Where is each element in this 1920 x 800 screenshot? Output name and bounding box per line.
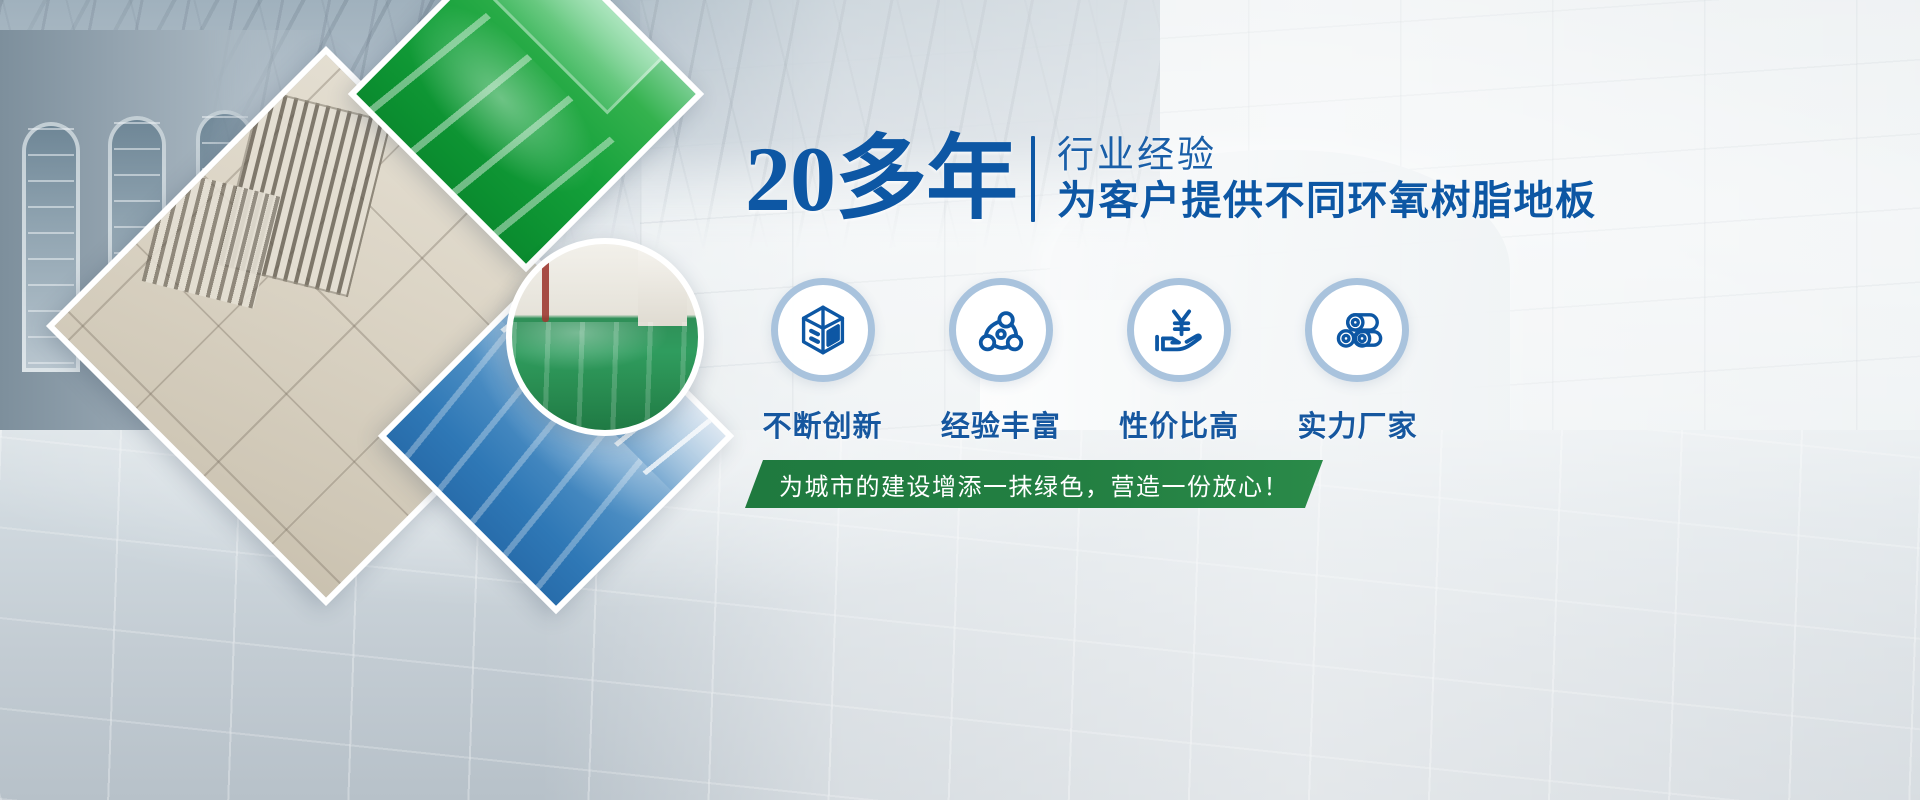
headline-divider (1031, 136, 1035, 222)
feature-item-experience[interactable]: 经验丰富 (923, 278, 1078, 445)
feature-label: 不断创新 (762, 403, 882, 445)
headline-subtitle: 行业经验 (1057, 132, 1597, 177)
feature-item-factory[interactable]: 实力厂家 (1280, 278, 1435, 445)
hand-holding-yen-icon (1152, 303, 1206, 357)
cube-box-icon (796, 303, 850, 357)
feature-icon-circle (1127, 278, 1231, 382)
headline-description: 为客户提供不同环氧树脂地板 (1057, 177, 1597, 226)
headline-block: 20多年 行业经验 为客户提供不同环氧树脂地板 (745, 132, 1597, 226)
hero-banner: 20多年 行业经验 为客户提供不同环氧树脂地板 (0, 0, 1920, 800)
feature-label: 经验丰富 (941, 403, 1061, 445)
feature-item-value[interactable]: 性价比高 (1102, 278, 1257, 445)
headline-text-group: 行业经验 为客户提供不同环氧树脂地板 (1057, 132, 1597, 226)
feature-label: 实力厂家 (1297, 403, 1417, 445)
feature-list: 不断创新 经验丰富 (745, 278, 1435, 445)
feature-item-innovation[interactable]: 不断创新 (745, 278, 900, 445)
photo-collage (100, 10, 740, 650)
slogan-ribbon: 为城市的建设增添一抹绿色，营造一份放心！ (745, 460, 1323, 508)
slogan-text: 为城市的建设增添一抹绿色，营造一份放心！ (779, 467, 1289, 502)
stacked-rolls-icon (1330, 303, 1384, 357)
feature-icon-circle (949, 278, 1053, 382)
banner-content: 20多年 行业经验 为客户提供不同环氧树脂地板 (735, 0, 1920, 800)
years-figure: 20多年 (745, 133, 1017, 225)
feature-icon-circle (1305, 278, 1409, 382)
feature-label: 性价比高 (1119, 403, 1239, 445)
feature-icon-circle (771, 278, 875, 382)
collage-circle-corridor-photo (506, 238, 704, 436)
molecule-network-icon (974, 303, 1028, 357)
